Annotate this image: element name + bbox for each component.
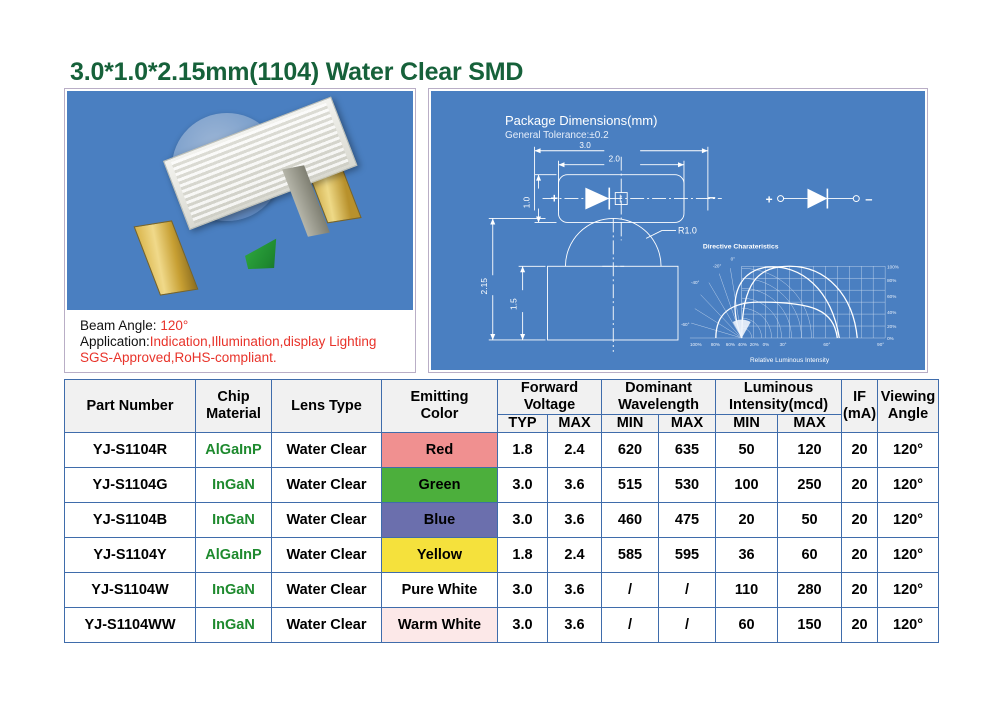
header-dominant-line1: Dominant: [602, 380, 715, 397]
table-row: YJ-S1104BInGaNWater ClearBlue3.03.646047…: [65, 503, 939, 538]
cell-part_number: YJ-S1104R: [65, 433, 196, 468]
header-lens-type: Lens Type: [272, 380, 382, 433]
svg-text:80%: 80%: [711, 342, 720, 347]
cell-chip_material: InGaN: [196, 468, 272, 503]
cell-if_typ: 20: [842, 538, 878, 573]
header-part-number: Part Number: [65, 380, 196, 433]
cell-if_typ: 20: [842, 608, 878, 643]
subheader-wl-min: MIN: [602, 415, 659, 433]
header-emitting-line1: Emitting: [382, 389, 497, 406]
cell-angle: 120°: [878, 503, 939, 538]
svg-text:100%: 100%: [690, 342, 702, 347]
cell-angle: 120°: [878, 468, 939, 503]
svg-text:60°: 60°: [823, 342, 830, 347]
dim-radius-label: R1.0: [678, 225, 697, 235]
cell-part_number: YJ-S1104Y: [65, 538, 196, 573]
header-viewing-line1: Viewing: [878, 389, 938, 406]
cell-vf_max: 2.4: [548, 433, 602, 468]
svg-text:60%: 60%: [726, 342, 735, 347]
table-header-row-1: Part Number Chip Material Lens Type Emit…: [65, 380, 939, 415]
header-chip-material: Chip Material: [196, 380, 272, 433]
cell-iv_min: 100: [716, 468, 778, 503]
svg-text:60%: 60%: [887, 294, 896, 299]
cell-angle: 120°: [878, 608, 939, 643]
cell-vf_typ: 1.8: [498, 433, 548, 468]
cell-part_number: YJ-S1104G: [65, 468, 196, 503]
application-line: Application:Indication,Illumination,disp…: [80, 334, 413, 350]
cell-wl_max: 530: [659, 468, 716, 503]
header-chip-material-line2: Material: [196, 406, 271, 423]
cell-lens_type: Water Clear: [272, 433, 382, 468]
dim-body-height-label: 1.5: [509, 298, 519, 310]
cell-wl_max: /: [659, 608, 716, 643]
table-row: YJ-S1104RAlGaInPWater ClearRed1.82.46206…: [65, 433, 939, 468]
cell-iv_max: 250: [778, 468, 842, 503]
header-viewing-line2: Angle: [878, 406, 938, 423]
header-forward-line1: Forward: [498, 380, 601, 397]
led-gold-pad-left: [134, 220, 199, 295]
header-luminous-line1: Luminous: [716, 380, 841, 397]
cell-iv_min: 20: [716, 503, 778, 538]
header-viewing-angle: Viewing Angle: [878, 380, 939, 433]
cell-wl_min: 515: [602, 468, 659, 503]
cell-wl_min: /: [602, 573, 659, 608]
product-photo-image: [67, 91, 413, 310]
svg-text:0%: 0%: [887, 336, 894, 341]
svg-text:30°: 30°: [780, 342, 787, 347]
subheader-vf-typ: TYP: [498, 415, 548, 433]
cell-vf_typ: 3.0: [498, 503, 548, 538]
table-body: YJ-S1104RAlGaInPWater ClearRed1.82.46206…: [65, 433, 939, 643]
cell-part_number: YJ-S1104WW: [65, 608, 196, 643]
cell-emitting_color: Pure White: [382, 573, 498, 608]
cell-part_number: YJ-S1104B: [65, 503, 196, 538]
svg-text:20%: 20%: [750, 342, 759, 347]
svg-text:90°: 90°: [877, 342, 884, 347]
cell-if_typ: 20: [842, 468, 878, 503]
cell-chip_material: InGaN: [196, 503, 272, 538]
cell-if_typ: 20: [842, 503, 878, 538]
cell-emitting_color: Red: [382, 433, 498, 468]
dim-height-side-label: 1.0: [523, 196, 532, 208]
product-photo-panel: Beam Angle: 120° Application:Indication,…: [64, 88, 416, 373]
cell-iv_max: 280: [778, 573, 842, 608]
cell-wl_max: 595: [659, 538, 716, 573]
header-emitting-line2: Color: [382, 406, 497, 423]
svg-text:0°: 0°: [731, 256, 736, 261]
header-forward-line2: Voltage: [498, 397, 601, 414]
cell-if_typ: 20: [842, 573, 878, 608]
datasheet-page: 3.0*1.0*2.15mm(1104) Water Clear SMD Bea…: [0, 0, 1000, 720]
cell-iv_min: 50: [716, 433, 778, 468]
cell-iv_min: 60: [716, 608, 778, 643]
specification-table: Part Number Chip Material Lens Type Emit…: [64, 379, 939, 643]
cell-angle: 120°: [878, 433, 939, 468]
header-luminous-intensity: Luminous Intensity(mcd): [716, 380, 842, 415]
page-title: 3.0*1.0*2.15mm(1104) Water Clear SMD: [70, 58, 523, 87]
cell-wl_min: 620: [602, 433, 659, 468]
cell-iv_max: 150: [778, 608, 842, 643]
subheader-wl-max: MAX: [659, 415, 716, 433]
cell-lens_type: Water Clear: [272, 573, 382, 608]
cell-lens_type: Water Clear: [272, 468, 382, 503]
compliance-line: SGS-Approved,RoHS-compliant.: [80, 350, 413, 366]
subheader-vf-max: MAX: [548, 415, 602, 433]
cell-wl_min: /: [602, 608, 659, 643]
cell-emitting_color: Green: [382, 468, 498, 503]
schematic-minus: –: [865, 192, 872, 207]
beam-angle-line: Beam Angle: 120°: [80, 318, 413, 334]
dim-width-inner-label: 2.0: [609, 155, 621, 164]
cell-vf_max: 3.6: [548, 468, 602, 503]
cell-iv_max: 50: [778, 503, 842, 538]
cell-vf_typ: 1.8: [498, 538, 548, 573]
cell-chip_material: InGaN: [196, 608, 272, 643]
svg-text:-40°: -40°: [691, 280, 700, 285]
header-dominant-wavelength: Dominant Wavelength: [602, 380, 716, 415]
cell-vf_max: 3.6: [548, 608, 602, 643]
polar-chart-title: Directive Charateristics: [703, 243, 779, 250]
table-row: YJ-S1104WWInGaNWater ClearWarm White3.03…: [65, 608, 939, 643]
table-row: YJ-S1104GInGaNWater ClearGreen3.03.65155…: [65, 468, 939, 503]
svg-text:80%: 80%: [887, 278, 896, 283]
technical-drawing-svg: 3.0 2.0 1.0 + – + –: [431, 91, 925, 370]
svg-text:100%: 100%: [887, 264, 899, 269]
cell-iv_max: 120: [778, 433, 842, 468]
cell-lens_type: Water Clear: [272, 503, 382, 538]
cell-vf_typ: 3.0: [498, 468, 548, 503]
svg-text:20%: 20%: [887, 324, 896, 329]
cell-vf_max: 3.6: [548, 573, 602, 608]
table-row: YJ-S1104YAlGaInPWater ClearYellow1.82.45…: [65, 538, 939, 573]
package-dimensions-panel: Package Dimensions(mm) General Tolerance…: [428, 88, 928, 373]
header-chip-material-line1: Chip: [196, 389, 271, 406]
schematic-plus: +: [766, 193, 773, 207]
beam-angle-label: Beam Angle:: [80, 318, 160, 333]
cell-wl_min: 460: [602, 503, 659, 538]
cell-chip_material: AlGaInP: [196, 538, 272, 573]
polarity-plus-top: +: [551, 191, 559, 206]
cell-emitting_color: Warm White: [382, 608, 498, 643]
product-photo-area: [67, 91, 413, 310]
cell-emitting_color: Yellow: [382, 538, 498, 573]
svg-text:40%: 40%: [887, 310, 896, 315]
header-forward-voltage: Forward Voltage: [498, 380, 602, 415]
product-caption: Beam Angle: 120° Application:Indication,…: [67, 312, 413, 370]
cell-wl_min: 585: [602, 538, 659, 573]
cell-vf_typ: 3.0: [498, 608, 548, 643]
header-luminous-line2: Intensity(mcd): [716, 397, 841, 414]
cell-lens_type: Water Clear: [272, 538, 382, 573]
cell-lens_type: Water Clear: [272, 608, 382, 643]
subheader-iv-min: MIN: [716, 415, 778, 433]
cell-chip_material: InGaN: [196, 573, 272, 608]
svg-text:40%: 40%: [738, 342, 747, 347]
dim-total-height-label: 2.15: [479, 278, 489, 295]
cell-iv_min: 110: [716, 573, 778, 608]
cell-vf_typ: 3.0: [498, 573, 548, 608]
polar-chart-xlabel: Relative Luminous Intensity: [750, 357, 830, 364]
cell-vf_max: 3.6: [548, 503, 602, 538]
cell-wl_max: 635: [659, 433, 716, 468]
cell-wl_max: 475: [659, 503, 716, 538]
polar-chart-grid: [690, 266, 885, 338]
header-dominant-line2: Wavelength: [602, 397, 715, 414]
cell-part_number: YJ-S1104W: [65, 573, 196, 608]
header-emitting-color: Emitting Color: [382, 380, 498, 433]
cell-iv_max: 60: [778, 538, 842, 573]
application-value: Indication,Illumination,display Lighting: [150, 334, 377, 349]
cell-angle: 120°: [878, 538, 939, 573]
svg-text:-60°: -60°: [681, 322, 690, 327]
cell-wl_max: /: [659, 573, 716, 608]
cell-if_typ: 20: [842, 433, 878, 468]
svg-text:0%: 0%: [763, 342, 770, 347]
subheader-iv-max: MAX: [778, 415, 842, 433]
polarity-minus-top: –: [708, 189, 716, 205]
header-if-line1: IF: [842, 389, 877, 406]
cell-emitting_color: Blue: [382, 503, 498, 538]
header-if: IF (mA): [842, 380, 878, 433]
table-row: YJ-S1104WInGaNWater ClearPure White3.03.…: [65, 573, 939, 608]
application-label: Application:: [80, 334, 150, 349]
cell-angle: 120°: [878, 573, 939, 608]
technical-drawing-area: Package Dimensions(mm) General Tolerance…: [431, 91, 925, 370]
svg-text:-20°: -20°: [713, 263, 722, 268]
cell-iv_min: 36: [716, 538, 778, 573]
cell-chip_material: AlGaInP: [196, 433, 272, 468]
header-if-line2: (mA): [842, 406, 877, 423]
cell-vf_max: 2.4: [548, 538, 602, 573]
dim-width-outer-label: 3.0: [579, 141, 591, 150]
beam-angle-value: 120°: [160, 318, 188, 333]
